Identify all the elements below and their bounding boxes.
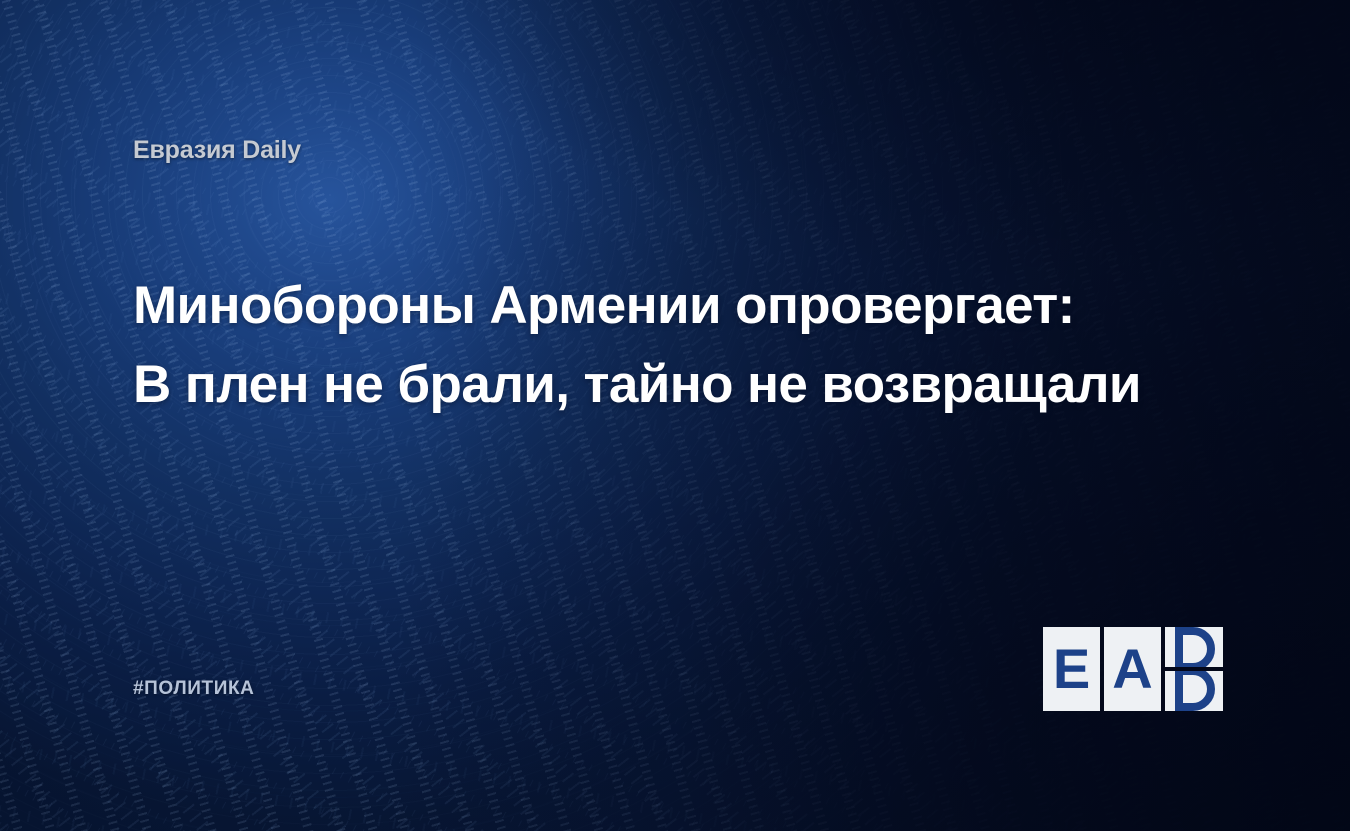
logo-d-lower-icon <box>1165 671 1223 711</box>
logo-letter-a: A <box>1104 627 1161 711</box>
logo-d-upper-icon <box>1165 627 1223 667</box>
logo-half-top <box>1165 627 1223 667</box>
headline-line-2: В плен не брали, тайно не возвращали <box>133 345 1223 424</box>
category-tag[interactable]: #ПОЛИТИКА <box>133 678 255 700</box>
eadaily-logo[interactable]: E A <box>1043 627 1223 711</box>
logo-tile-a: A <box>1104 627 1161 711</box>
card-content: Евразия Daily Минобороны Армении опровер… <box>0 0 1350 831</box>
news-card: Евразия Daily Минобороны Армении опровер… <box>0 0 1350 831</box>
brand-name: Евразия Daily <box>133 136 301 165</box>
headline-line-1: Минобороны Армении опровергает: <box>133 266 1223 345</box>
logo-tile-e: E <box>1043 627 1100 711</box>
logo-half-bottom <box>1165 671 1223 711</box>
logo-letter-e: E <box>1043 627 1100 711</box>
logo-tile-d-stack <box>1165 627 1223 711</box>
headline: Минобороны Армении опровергает: В плен н… <box>133 266 1223 424</box>
